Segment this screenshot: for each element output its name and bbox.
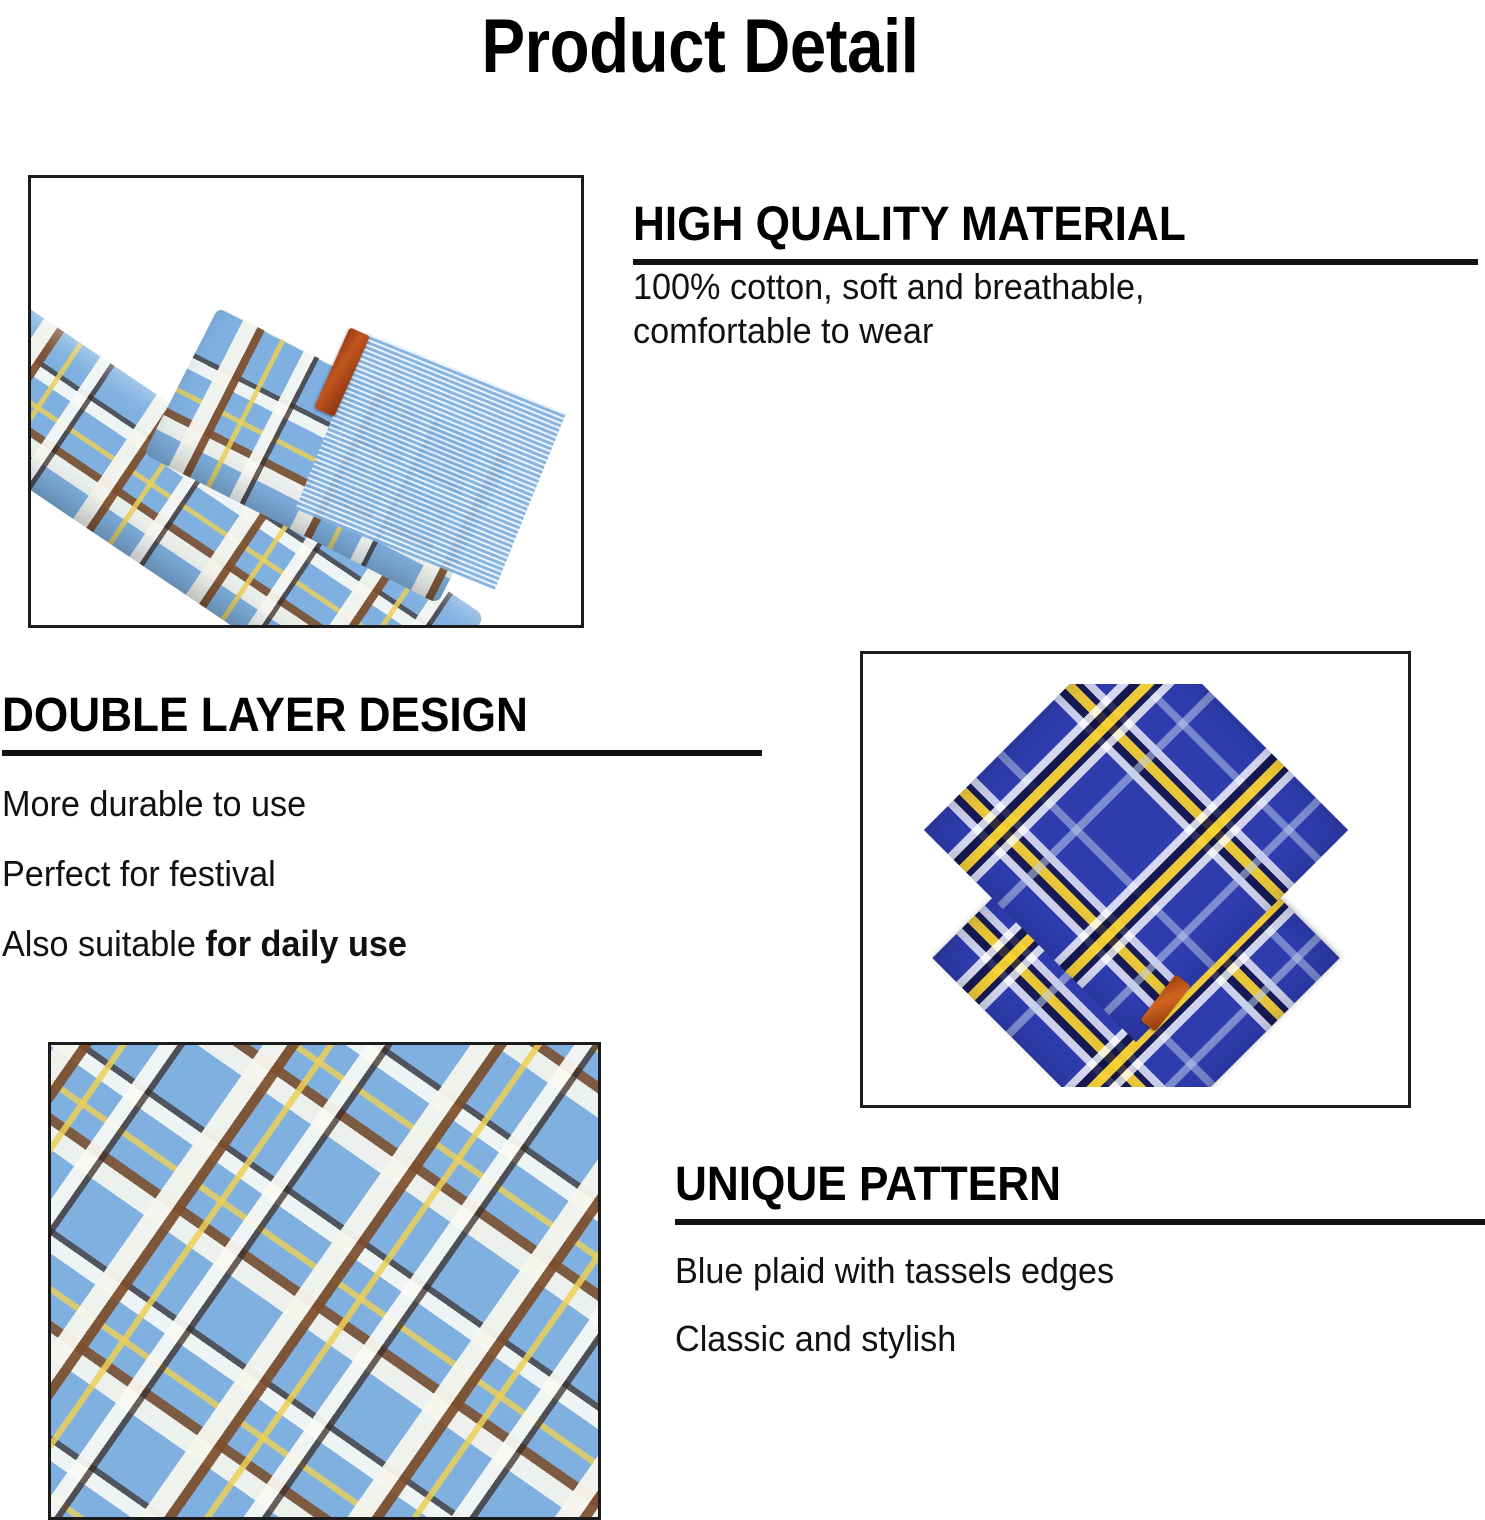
feature-headline: UNIQUE PATTERN [675, 1157, 1420, 1213]
feature-body-line-3-normal: Also suitable [2, 923, 205, 964]
heading-underline [2, 750, 762, 756]
product-image-flat-bandana[interactable]: ADOGGYGO [48, 1042, 601, 1520]
feature-unique-pattern: UNIQUE PATTERN Blue plaid with tassels e… [675, 1157, 1485, 1361]
feature-body-line-2: comfortable to wear [633, 309, 1442, 353]
feature-double-layer-design: DOUBLE LAYER DESIGN More durable to use … [2, 688, 764, 966]
page-title: Product Detail [98, 4, 1302, 90]
feature-body-line-3-bold: for daily use [205, 923, 406, 964]
feature-body-line-2: Perfect for festival [2, 852, 726, 896]
product-image-rolled-scarf[interactable] [28, 175, 584, 628]
product-image-folded-triangle[interactable] [860, 651, 1411, 1108]
feature-body-line-3: Also suitable for daily use [2, 922, 726, 966]
rolled-scarf-photo [31, 178, 581, 625]
bandana-rotation-wrap [48, 1042, 601, 1520]
flat-bandana-photo: ADOGGYGO [51, 1045, 598, 1517]
photo-bottom-mask [863, 1087, 1408, 1105]
feature-body-line-1: More durable to use [2, 782, 726, 826]
feature-headline: HIGH QUALITY MATERIAL [633, 197, 1417, 253]
feature-high-quality-material: HIGH QUALITY MATERIAL 100% cotton, soft … [633, 197, 1485, 353]
photo-top-mask [863, 654, 1408, 684]
feature-body-line-1: Blue plaid with tassels edges [675, 1249, 1445, 1293]
feature-headline: DOUBLE LAYER DESIGN [2, 688, 703, 744]
feature-body-line-2: Classic and stylish [675, 1317, 1445, 1361]
folded-triangle-photo [863, 654, 1408, 1105]
feature-body-line-1: 100% cotton, soft and breathable, [633, 265, 1442, 309]
bandana-fabric [48, 1042, 601, 1520]
heading-underline [675, 1219, 1485, 1225]
